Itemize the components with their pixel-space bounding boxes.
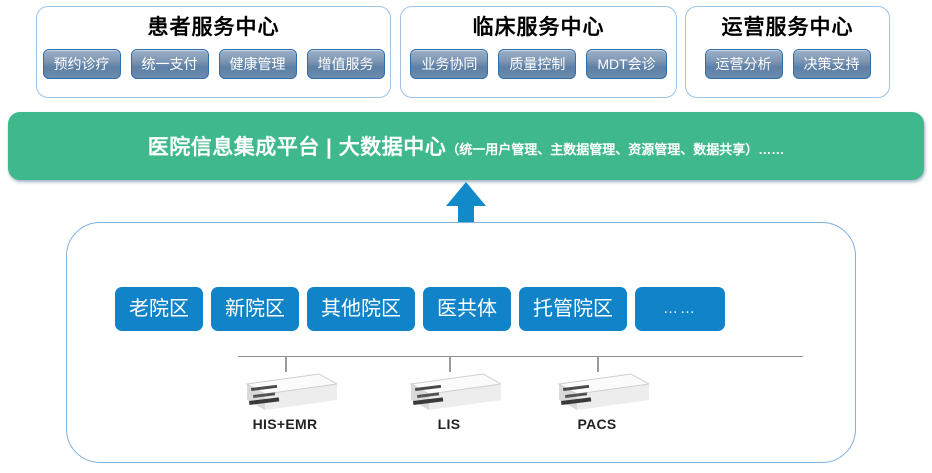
service-chip-jiankangguanli[interactable]: 健康管理: [219, 49, 297, 79]
system-label: LIS: [389, 416, 509, 432]
service-chip-zengzhifuwu[interactable]: 增值服务: [307, 49, 385, 79]
server-icon: [397, 370, 501, 421]
service-center-card-clinical: 临床服务中心 业务协同 质量控制 MDT会诊: [400, 6, 677, 98]
service-chip-juecezhichi[interactable]: 决策支持: [793, 49, 871, 79]
campus-box-medical-alliance[interactable]: 医共体: [423, 287, 511, 331]
server-icon: [545, 370, 649, 421]
service-center-card-operations: 运营服务中心 运营分析 决策支持: [685, 6, 890, 98]
service-chip-yunyingfenxi[interactable]: 运营分析: [705, 49, 783, 79]
underlying-systems-area: HIS+EMR LIS: [67, 353, 857, 463]
service-chip-tongyizhifu[interactable]: 统一支付: [131, 49, 209, 79]
service-center-title: 临床服务中心: [401, 14, 676, 40]
campus-box-more[interactable]: ……: [635, 287, 725, 331]
system-label: PACS: [537, 416, 657, 432]
campus-box-other[interactable]: 其他院区: [307, 287, 415, 331]
service-chip-mdt-huizhen[interactable]: MDT会诊: [586, 49, 666, 79]
server-icon: [233, 370, 337, 421]
campus-box-trusteeship[interactable]: 托管院区: [519, 287, 627, 331]
platform-title: 医院信息集成平台 | 大数据中心（统一用户管理、主数据管理、资源管理、数据共享）…: [148, 131, 785, 161]
service-chip-row: 业务协同 质量控制 MDT会诊: [401, 49, 676, 79]
system-bus-line: [238, 356, 803, 357]
platform-title-text: 医院信息集成平台 | 大数据中心: [148, 136, 447, 159]
campus-box-old[interactable]: 老院区: [115, 287, 203, 331]
service-chip-yewuxietong[interactable]: 业务协同: [410, 49, 488, 79]
service-center-title: 患者服务中心: [37, 14, 390, 40]
service-center-title: 运营服务中心: [686, 14, 889, 40]
service-chip-zhilianggongzhi[interactable]: 质量控制: [498, 49, 576, 79]
campus-container: 老院区 新院区 其他院区 医共体 托管院区 …… HIS+: [66, 222, 856, 463]
campus-box-row: 老院区 新院区 其他院区 医共体 托管院区 ……: [115, 287, 725, 331]
service-chip-row: 预约诊疗 统一支付 健康管理 增值服务: [37, 49, 390, 79]
service-chip-row: 运营分析 决策支持: [686, 49, 889, 79]
system-label: HIS+EMR: [225, 416, 345, 432]
platform-subtitle: （统一用户管理、主数据管理、资源管理、数据共享）……: [446, 142, 784, 157]
service-chip-yuyuezhenliao[interactable]: 预约诊疗: [43, 49, 121, 79]
campus-box-new[interactable]: 新院区: [211, 287, 299, 331]
integration-platform-bar: 医院信息集成平台 | 大数据中心（统一用户管理、主数据管理、资源管理、数据共享）…: [8, 112, 924, 180]
service-center-card-patient: 患者服务中心 预约诊疗 统一支付 健康管理 增值服务: [36, 6, 391, 98]
